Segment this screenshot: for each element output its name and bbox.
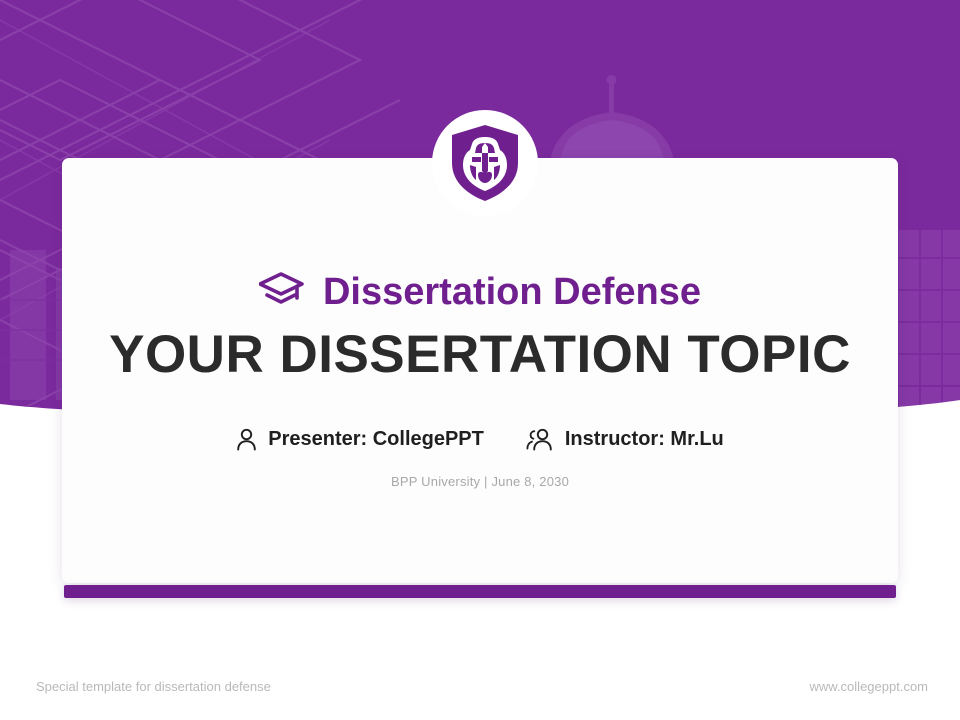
instructor-block: Instructor: Mr.Lu [526,428,724,451]
footer-left-text: Special template for dissertation defens… [36,679,271,694]
presenter-label: Presenter: CollegePPT [268,428,484,451]
card-content: Dissertation Defense YOUR DISSERTATION T… [62,158,898,583]
university-date-line: BPP University | June 8, 2030 [391,474,569,489]
slide-subtitle: Dissertation Defense [323,273,701,311]
instructor-label: Instructor: Mr.Lu [565,428,724,451]
people-group-icon [526,428,554,451]
person-icon [236,428,257,451]
graduation-cap-icon [259,271,305,313]
presenter-block: Presenter: CollegePPT [236,428,484,451]
people-row: Presenter: CollegePPT Instructor: Mr.Lu [236,428,724,451]
footer-right-url: www.collegeppt.com [810,679,929,694]
page-title: YOUR DISSERTATION TOPIC [109,327,851,383]
subtitle-row: Dissertation Defense [259,271,701,313]
presentation-slide: Dissertation Defense YOUR DISSERTATION T… [0,0,960,720]
card-accent-bar [64,585,896,598]
